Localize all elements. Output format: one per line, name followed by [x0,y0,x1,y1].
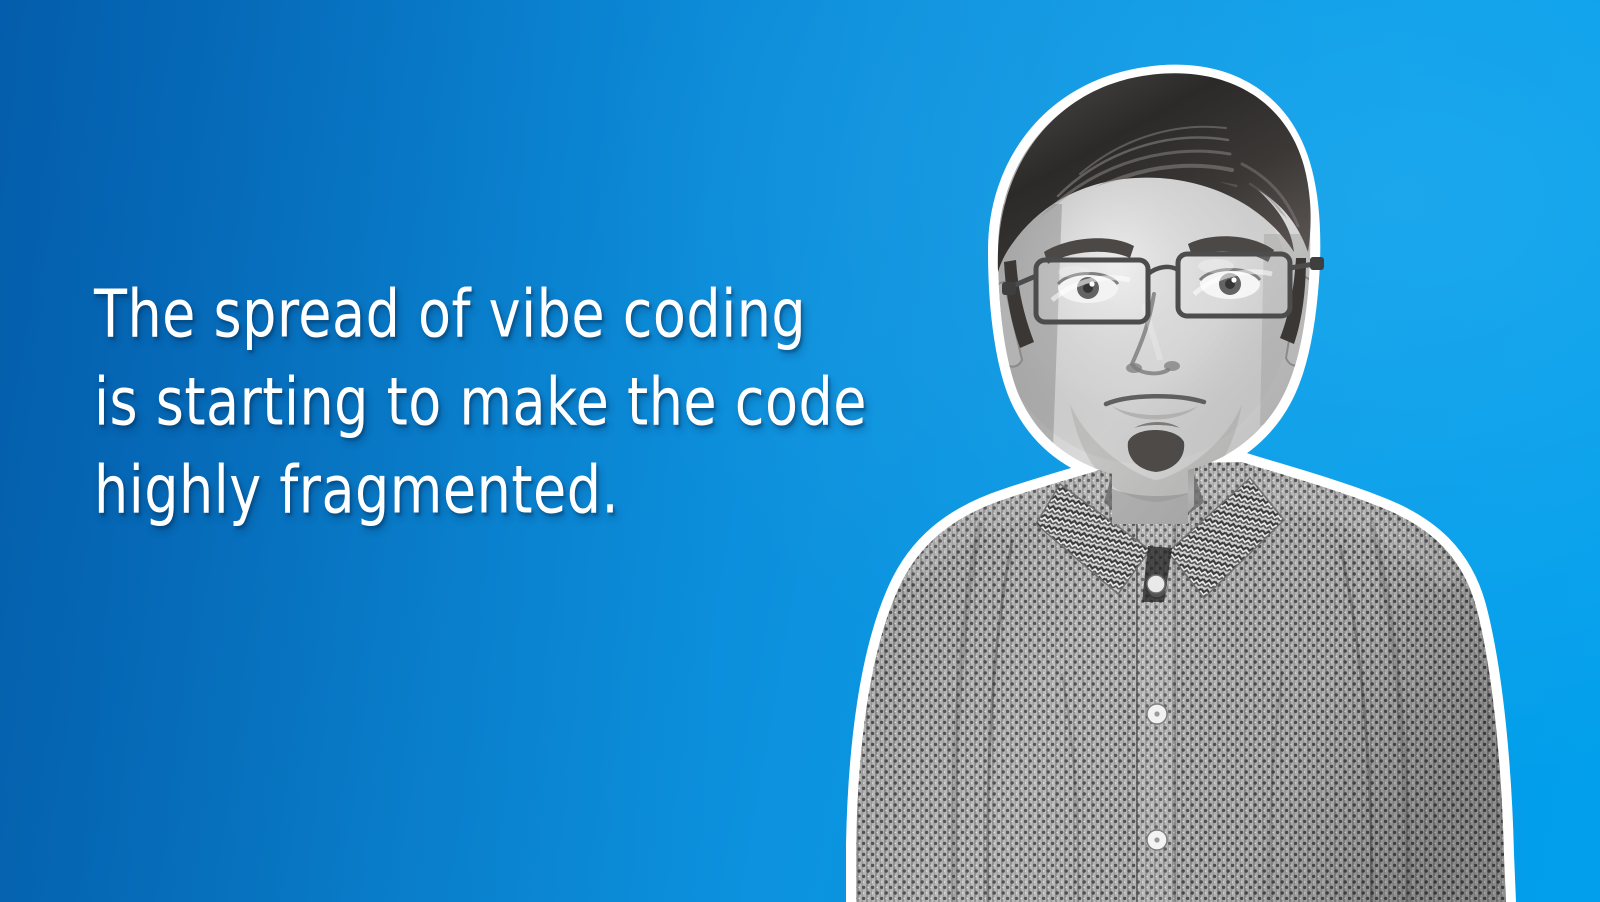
quote-line-1: The spread of vibe coding [94,266,924,363]
quote-line-2: is starting to make the code [94,354,924,451]
quote-text-block: The spread of vibe coding is starting to… [94,266,924,530]
quote-card: The spread of vibe coding is starting to… [0,0,1600,902]
quote-line-3: highly fragmented. [94,442,924,539]
